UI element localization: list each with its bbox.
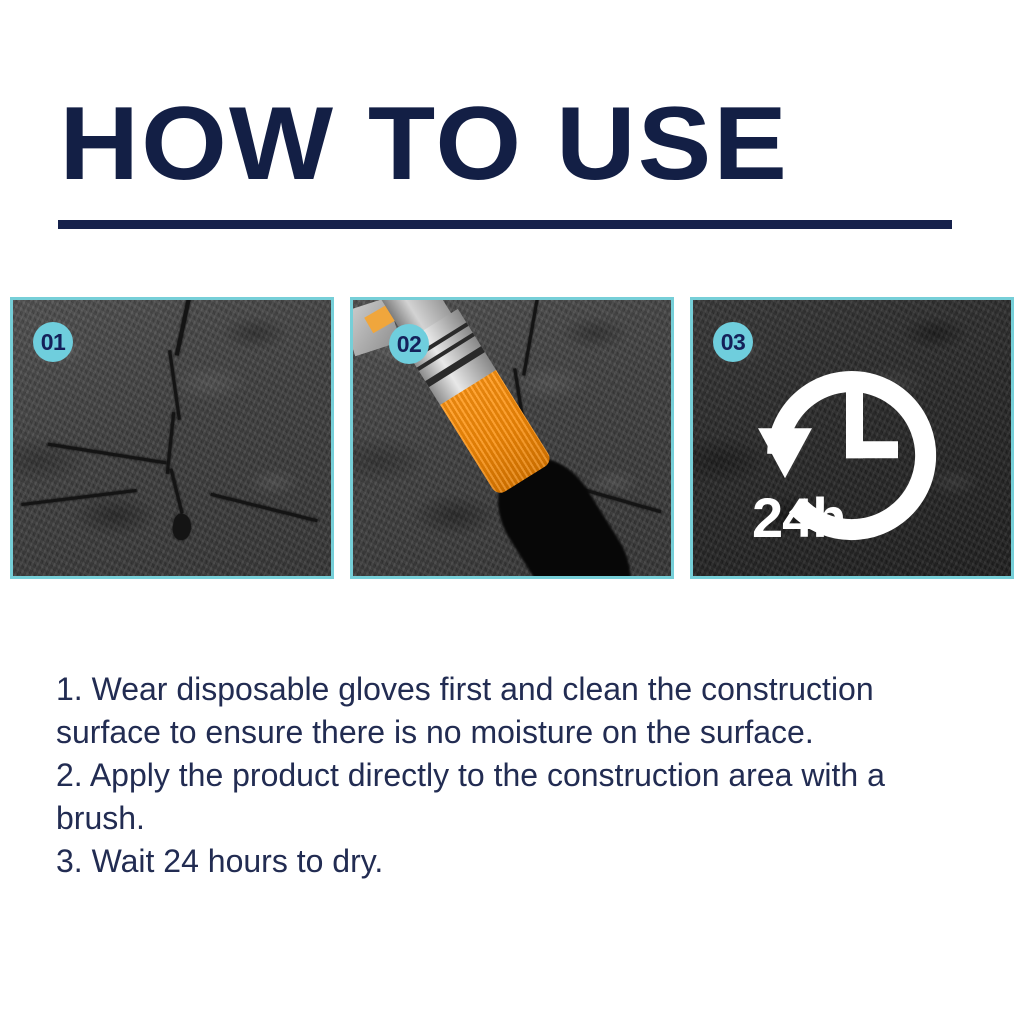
step-badge-02: 02 (389, 324, 429, 364)
title-underline-rule (58, 220, 952, 229)
step-panel-02[interactable]: 02 (350, 297, 674, 579)
instructions-block: 1. Wear disposable gloves first and clea… (56, 668, 968, 883)
instruction-line-1: 1. Wear disposable gloves first and clea… (56, 668, 968, 754)
title-block: HOW TO USE (0, 92, 1024, 196)
clock-24h-icon: 24h (746, 336, 958, 548)
step-badge-01: 01 (33, 322, 73, 362)
page-title: HOW TO USE (0, 92, 1024, 196)
clock-24h-label: 24h (752, 490, 846, 546)
step-panel-01[interactable]: 01 (10, 297, 334, 579)
instruction-line-2: 2. Apply the product directly to the con… (56, 754, 968, 840)
step-badge-03: 03 (713, 322, 753, 362)
step-panel-03[interactable]: 24h 03 (690, 297, 1014, 579)
steps-row: 01 02 (10, 297, 1014, 579)
instruction-line-3: 3. Wait 24 hours to dry. (56, 840, 968, 883)
